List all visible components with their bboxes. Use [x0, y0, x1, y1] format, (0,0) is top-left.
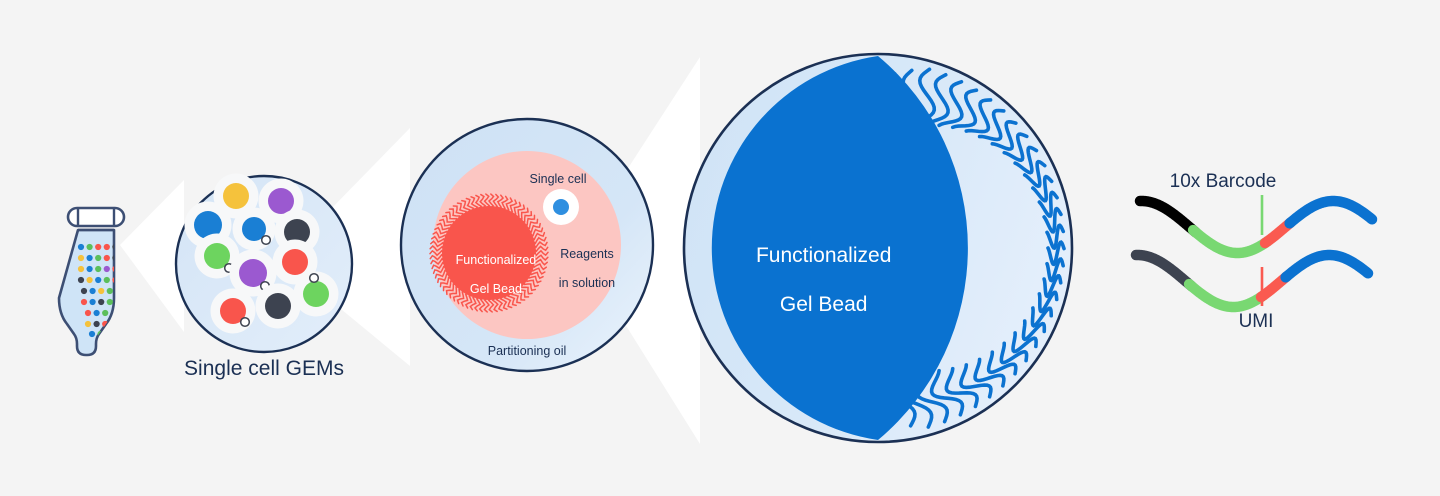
diagram-canvas: [0, 0, 1440, 496]
functionalized-gel-bead-large: [684, 54, 1072, 442]
strand-top: [1140, 201, 1372, 253]
wedge-tube-to-gems: [120, 180, 184, 332]
gem-detail-circle: [401, 119, 653, 371]
sample-tube: [59, 208, 124, 355]
single-cell-marker: [543, 189, 579, 225]
functionalized-gel-bead-small: [442, 206, 536, 300]
gem-bead: [294, 272, 339, 317]
gem-bead: [233, 208, 276, 251]
diagram-root: Single cell GEMs Partitioning oil Single…: [0, 0, 1440, 496]
single-cell-gems-circle: [176, 174, 352, 353]
gem-bead: [211, 289, 256, 334]
strand-bottom: [1136, 255, 1368, 307]
gem-bead: [256, 284, 301, 329]
oligo-strands: [1136, 195, 1372, 307]
